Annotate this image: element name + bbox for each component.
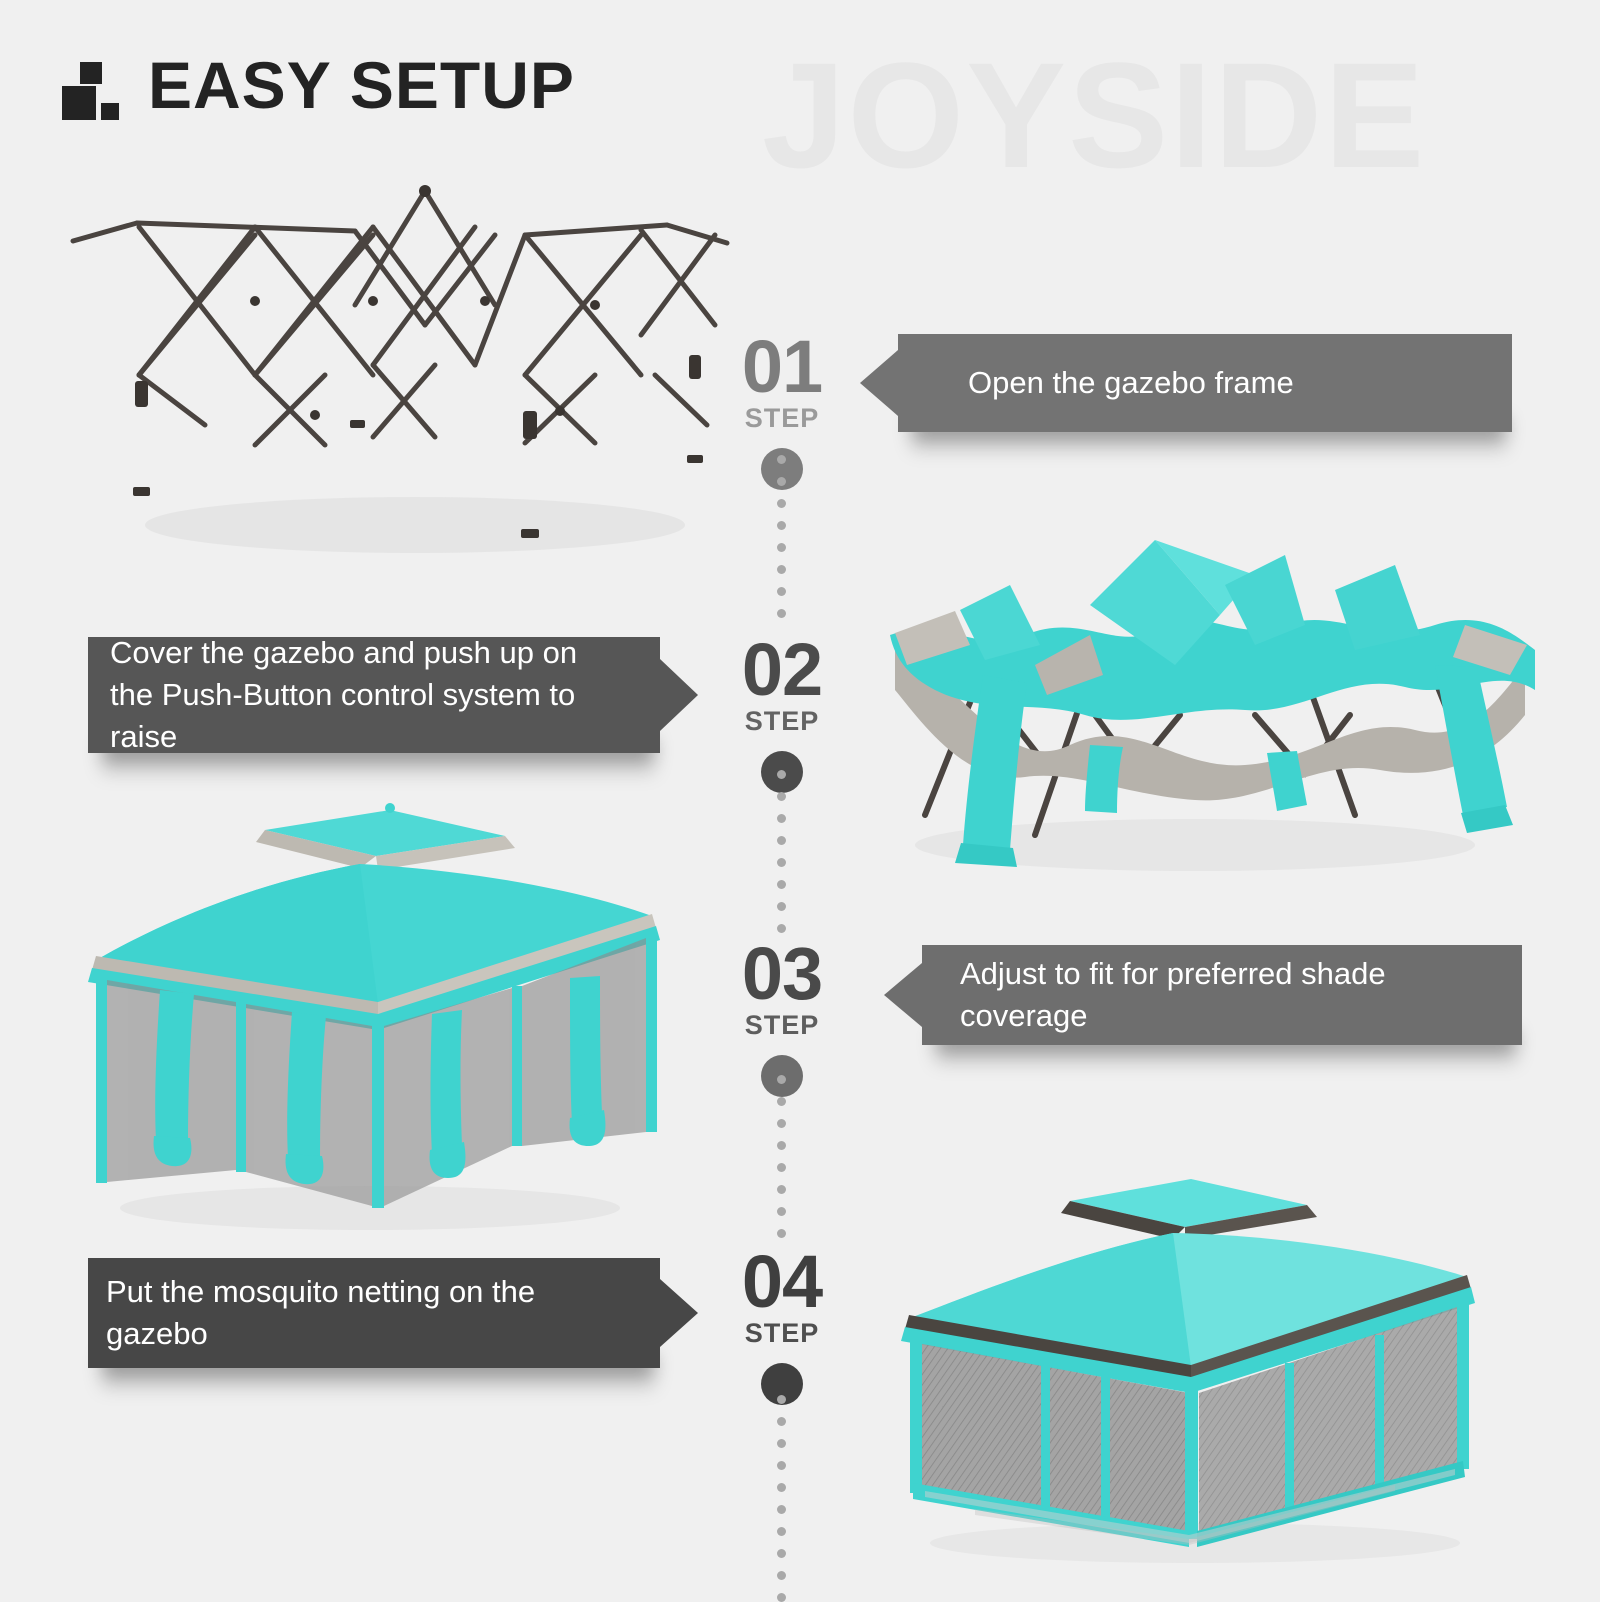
blocks-icon xyxy=(58,54,120,116)
callout-arrow-right-icon xyxy=(660,1279,698,1347)
gazebo-raised-with-curtains-image xyxy=(60,790,680,1240)
gazebo-complete-netting-image xyxy=(855,1135,1525,1565)
callout-text: Put the mosquito netting on the gazebo xyxy=(106,1271,620,1355)
timeline-connector xyxy=(777,300,787,1600)
callout-step-01[interactable]: Open the gazebo frame xyxy=(898,334,1512,432)
gazebo-canopy-draped-image xyxy=(835,515,1545,885)
callout-arrow-right-icon xyxy=(660,659,698,731)
callout-box: Open the gazebo frame xyxy=(898,334,1512,432)
callout-step-02[interactable]: Cover the gazebo and push up on the Push… xyxy=(88,637,660,753)
page-header: EASY SETUP xyxy=(58,52,575,118)
callout-box: Put the mosquito netting on the gazebo xyxy=(88,1258,660,1368)
brand-watermark: JOYSIDE xyxy=(762,40,1426,190)
infographic-canvas: JOYSIDE EASY SETUP xyxy=(0,0,1600,1600)
callout-box: Adjust to fit for preferred shade covera… xyxy=(922,945,1522,1045)
callout-arrow-left-icon xyxy=(884,963,922,1027)
callout-step-03[interactable]: Adjust to fit for preferred shade covera… xyxy=(922,945,1522,1045)
page-title: EASY SETUP xyxy=(148,52,575,118)
callout-step-04[interactable]: Put the mosquito netting on the gazebo xyxy=(88,1258,660,1368)
gazebo-frame-open-image xyxy=(55,175,745,565)
callout-arrow-left-icon xyxy=(860,350,898,416)
callout-text: Cover the gazebo and push up on the Push… xyxy=(110,632,626,758)
callout-text: Adjust to fit for preferred shade covera… xyxy=(960,953,1512,1037)
callout-box: Cover the gazebo and push up on the Push… xyxy=(88,637,660,753)
callout-text: Open the gazebo frame xyxy=(968,362,1512,404)
